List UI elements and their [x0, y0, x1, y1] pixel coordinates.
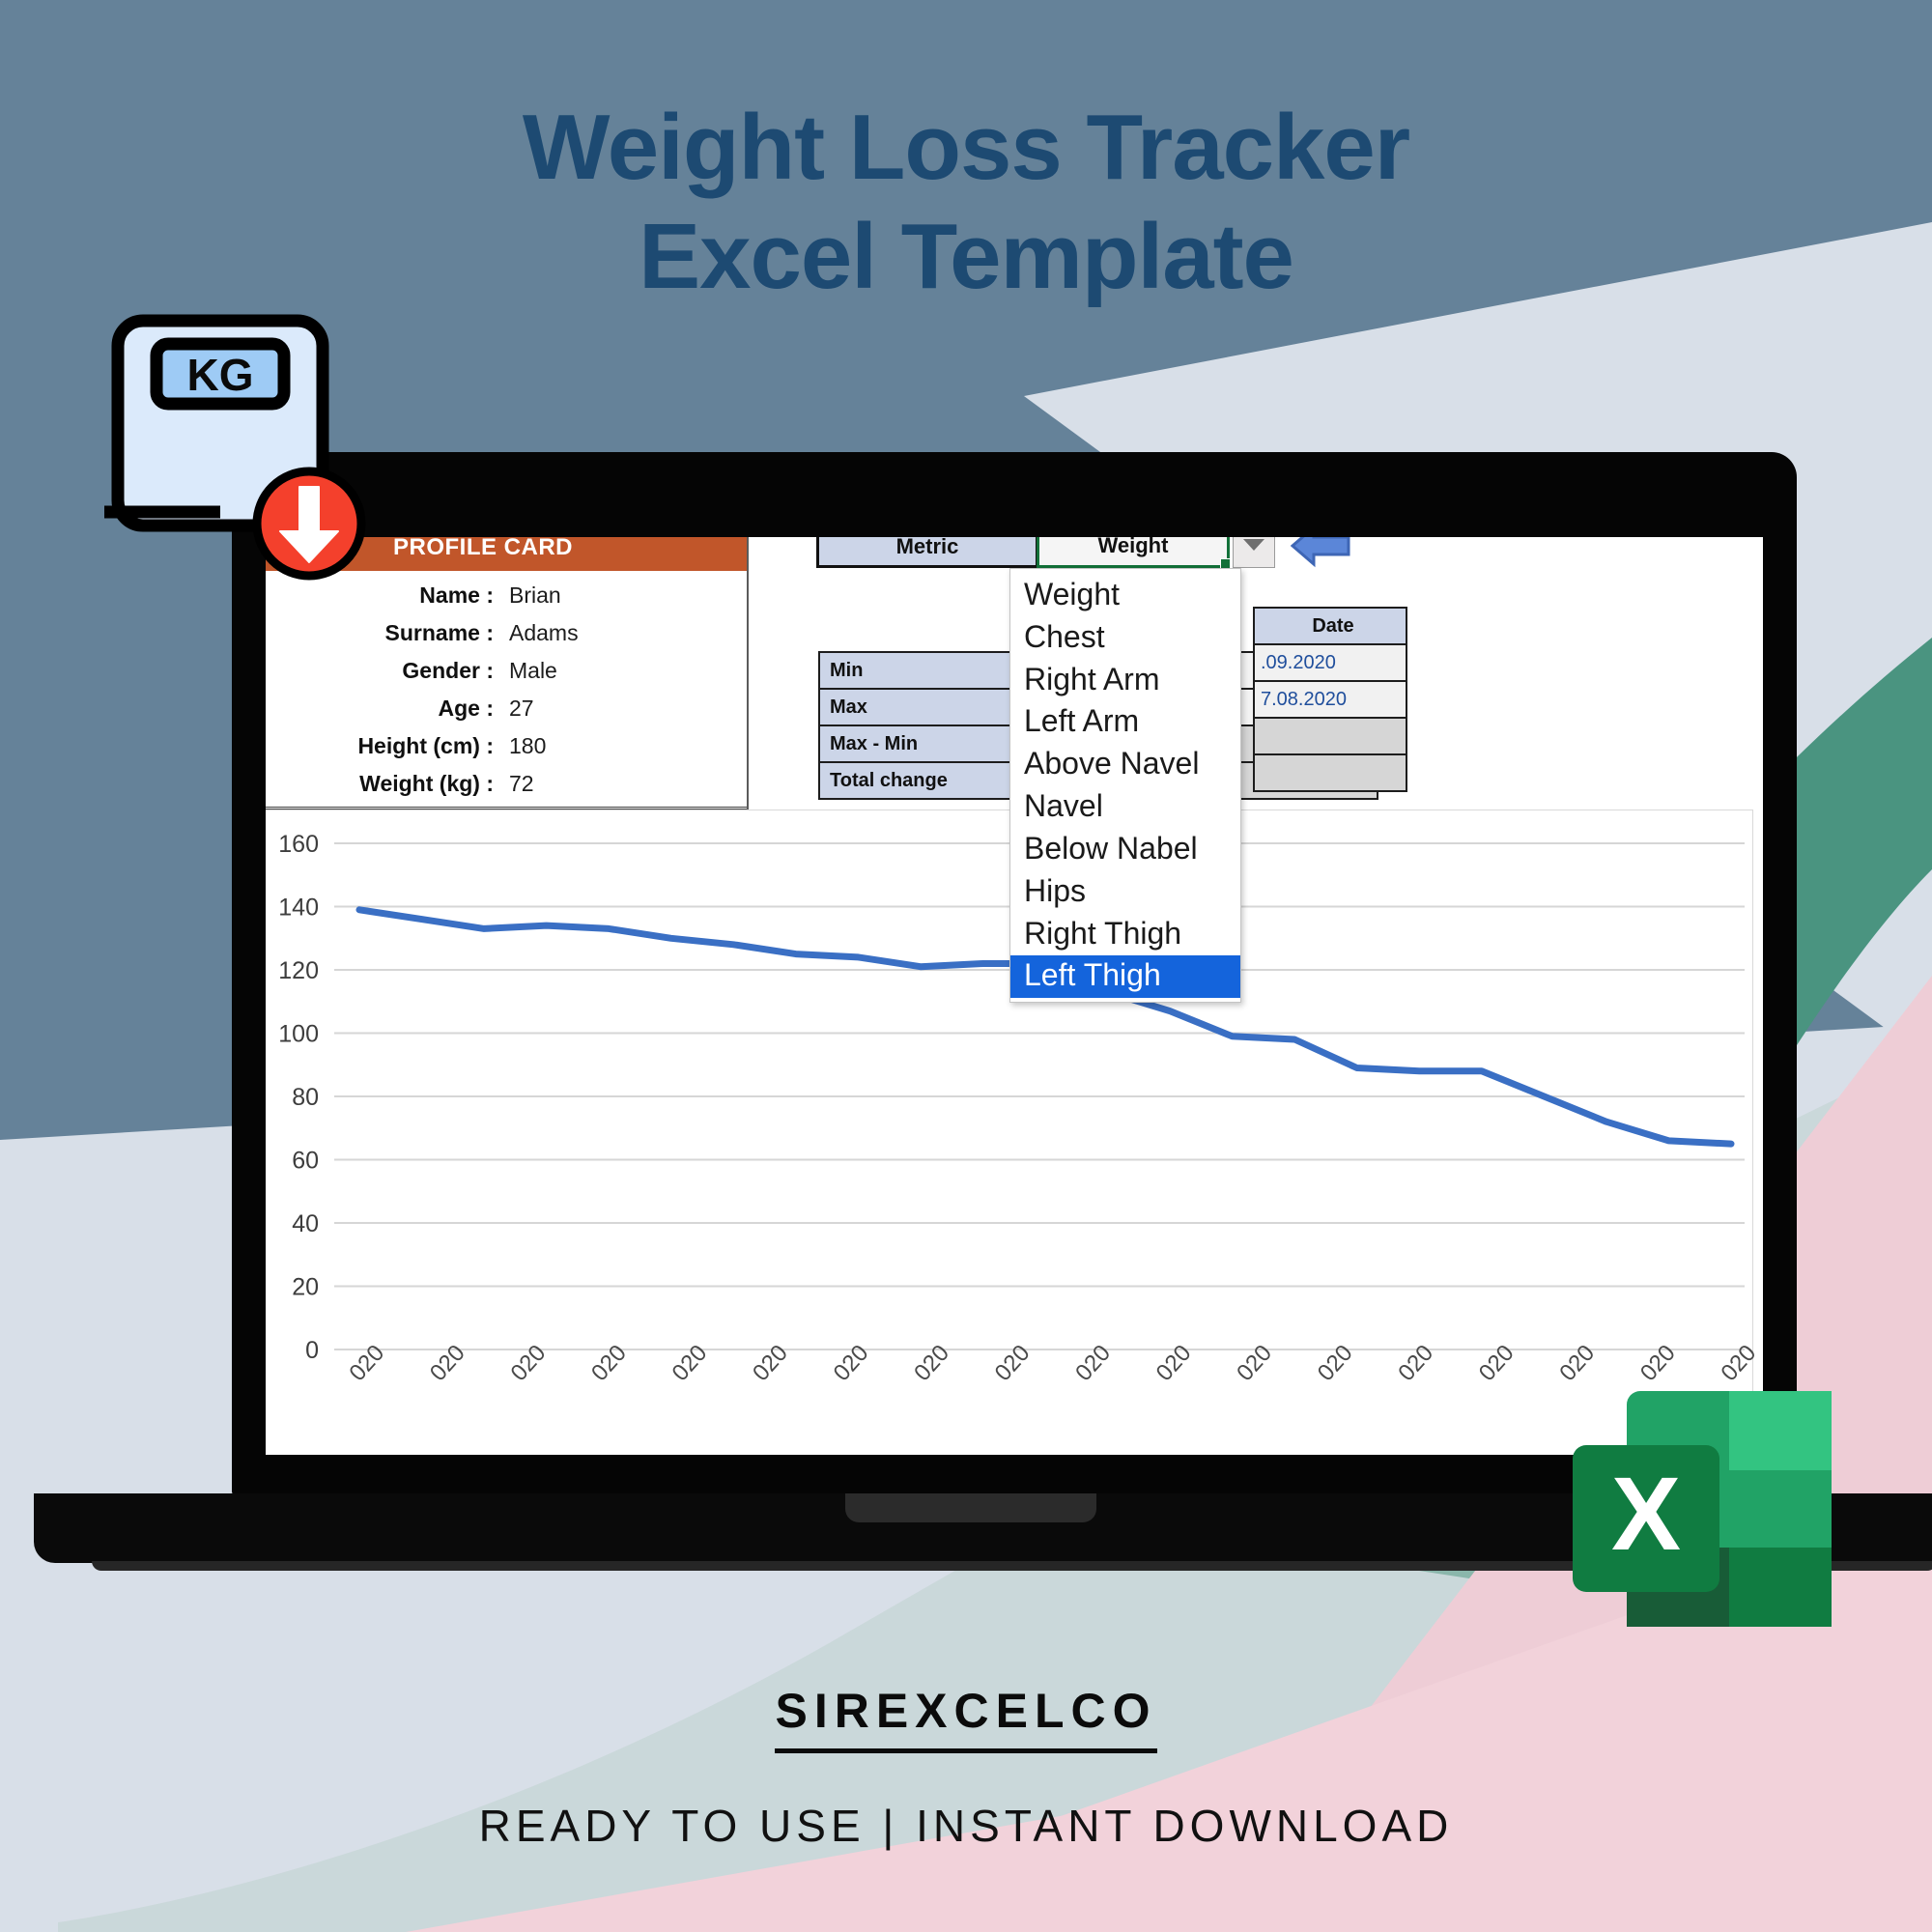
pointer-arrow-icon	[1291, 537, 1350, 568]
profile-row-label: Weight (kg) :	[266, 773, 509, 795]
profile-row: Age : 27	[266, 690, 747, 727]
dropdown-option-right-thigh[interactable]: Right Thigh	[1010, 914, 1240, 956]
profile-row-value[interactable]: Male	[509, 660, 557, 682]
metric-selector: Metric Weight	[816, 537, 1350, 568]
profile-row: Gender : Male	[266, 652, 747, 690]
dropdown-option-weight[interactable]: Weight	[1010, 575, 1240, 617]
profile-row-label: Name :	[266, 584, 509, 607]
dropdown-option-right-arm[interactable]: Right Arm	[1010, 660, 1240, 702]
profile-row-value[interactable]: 27	[509, 697, 534, 720]
laptop-notch	[845, 1493, 1096, 1522]
profile-row-value[interactable]: Adams	[509, 622, 579, 644]
svg-text:020: 020	[909, 1340, 954, 1386]
date-cell	[1253, 753, 1407, 792]
date-column-header: Date	[1253, 607, 1407, 645]
date-cell	[1253, 717, 1407, 755]
profile-row-label: Gender :	[266, 660, 509, 682]
svg-text:020: 020	[1151, 1340, 1197, 1386]
profile-row-value[interactable]: 72	[509, 773, 534, 795]
dropdown-option-left-thigh[interactable]: Left Thigh	[1010, 955, 1240, 998]
date-table: Date .09.2020 7.08.2020	[1253, 609, 1407, 792]
svg-text:020: 020	[1313, 1340, 1358, 1386]
footer: SIREXCELCO READY TO USE | INSTANT DOWNLO…	[0, 1683, 1932, 1852]
metric-label: Metric	[816, 537, 1038, 568]
download-arrow-badge[interactable]	[249, 464, 369, 583]
svg-text:020: 020	[667, 1340, 712, 1386]
page-title: Weight Loss Tracker Excel Template	[0, 93, 1932, 312]
svg-text:80: 80	[292, 1084, 319, 1111]
svg-text:020: 020	[505, 1340, 551, 1386]
svg-text:60: 60	[292, 1148, 319, 1175]
excel-logo-letter: X	[1611, 1455, 1681, 1572]
kg-label: KG	[187, 350, 254, 400]
svg-text:020: 020	[1474, 1340, 1520, 1386]
svg-text:120: 120	[278, 957, 319, 984]
svg-text:020: 020	[1232, 1340, 1277, 1386]
svg-text:020: 020	[1393, 1340, 1438, 1386]
date-cell: 7.08.2020	[1253, 680, 1407, 719]
svg-text:140: 140	[278, 895, 319, 922]
svg-text:020: 020	[425, 1340, 470, 1386]
svg-text:160: 160	[278, 831, 319, 858]
svg-text:100: 100	[278, 1021, 319, 1048]
svg-text:020: 020	[586, 1340, 632, 1386]
date-cell: .09.2020	[1253, 643, 1407, 682]
svg-text:40: 40	[292, 1210, 319, 1237]
dropdown-option-navel[interactable]: Navel	[1010, 786, 1240, 829]
dropdown-option-below-nabel[interactable]: Below Nabel	[1010, 829, 1240, 871]
dropdown-option-hips[interactable]: Hips	[1010, 871, 1240, 914]
svg-text:20: 20	[292, 1274, 319, 1301]
svg-text:020: 020	[344, 1340, 389, 1386]
title-line-1: Weight Loss Tracker	[0, 93, 1932, 202]
laptop-screen: PROFILE CARD Name : Brian Surname : Adam…	[266, 537, 1763, 1455]
svg-text:020: 020	[1070, 1340, 1116, 1386]
profile-row: Surname : Adams	[266, 614, 747, 652]
dropdown-option-above-navel[interactable]: Above Navel	[1010, 744, 1240, 786]
brand-name: SIREXCELCO	[775, 1683, 1156, 1753]
excel-sheet: PROFILE CARD Name : Brian Surname : Adam…	[266, 537, 1763, 1455]
profile-row-label: Surname :	[266, 622, 509, 644]
profile-card-rows: Name : Brian Surname : Adams Gender : Ma…	[266, 571, 747, 807]
svg-text:020: 020	[990, 1340, 1036, 1386]
profile-row-label: Age :	[266, 697, 509, 720]
svg-text:020: 020	[748, 1340, 793, 1386]
dropdown-option-chest[interactable]: Chest	[1010, 617, 1240, 660]
profile-row: Weight (kg) : 72	[266, 765, 747, 803]
chevron-down-icon[interactable]	[1233, 537, 1275, 568]
dropdown-option-left-arm[interactable]: Left Arm	[1010, 701, 1240, 744]
footer-tagline: READY TO USE | INSTANT DOWNLOAD	[0, 1800, 1932, 1852]
profile-row-label: Height (cm) :	[266, 735, 509, 757]
profile-row: Height (cm) : 180	[266, 727, 747, 765]
profile-row-value[interactable]: 180	[509, 735, 546, 757]
svg-text:0: 0	[305, 1337, 319, 1364]
metric-value-cell[interactable]: Weight	[1037, 537, 1230, 568]
excel-logo: X	[1557, 1364, 1847, 1654]
title-line-2: Excel Template	[0, 202, 1932, 311]
profile-row-value[interactable]: Brian	[509, 584, 561, 607]
svg-text:020: 020	[829, 1340, 874, 1386]
metric-dropdown-list[interactable]: Weight Chest Right Arm Left Arm Above Na…	[1009, 568, 1241, 1003]
